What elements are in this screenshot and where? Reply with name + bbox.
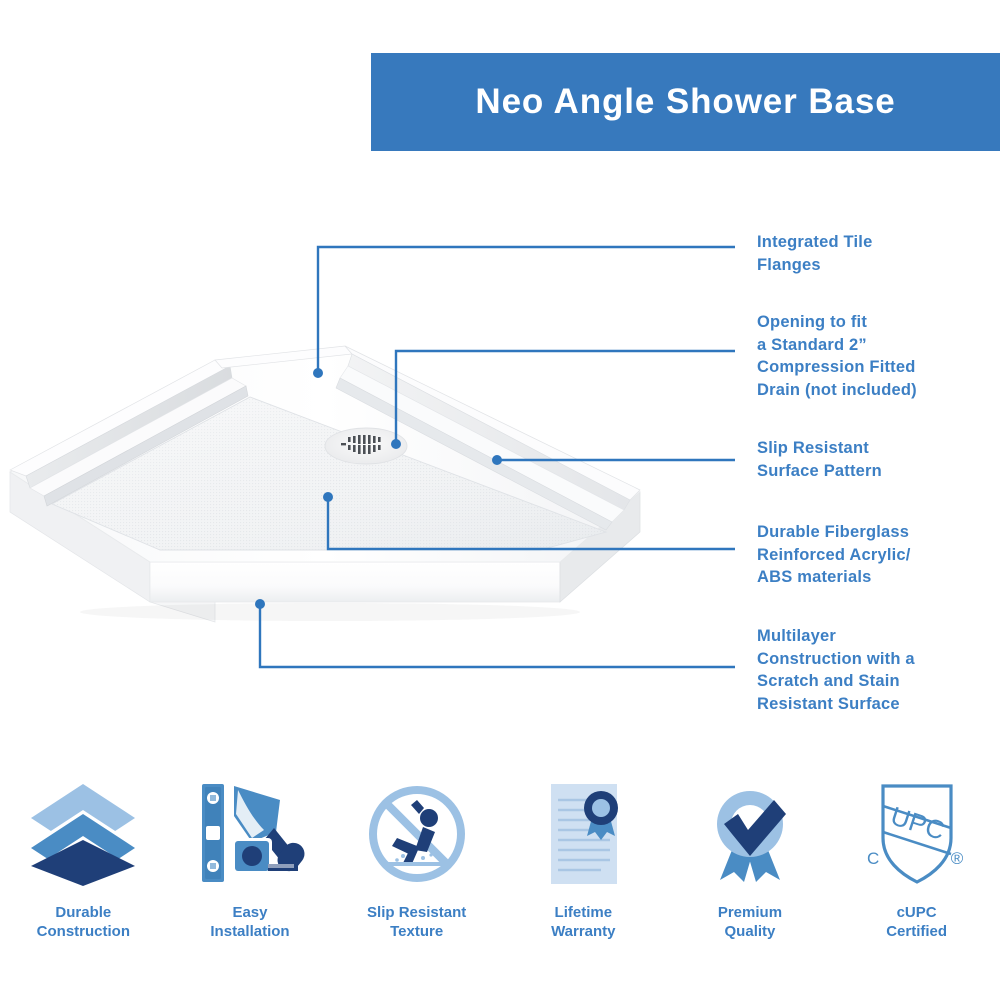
feature-cupc-certified: UPC C ® cUPC Certified — [834, 775, 1000, 941]
feature-caption: Slip Resistant Texture — [367, 903, 466, 941]
callout-label-durable-materials: Durable Fiberglass Reinforced Acrylic/ A… — [757, 521, 911, 589]
product-illustration — [0, 300, 700, 720]
shower-base-drawing — [0, 300, 700, 720]
upc-shield-icon: UPC C ® — [857, 775, 977, 893]
feature-caption: Easy Installation — [210, 903, 289, 941]
checkmark-badge-icon — [690, 775, 810, 893]
feature-premium-quality: Premium Quality — [667, 775, 833, 941]
cupc-left-mark: C — [867, 849, 879, 868]
upc-shield-text: UPC — [887, 800, 948, 845]
certificate-ribbon-icon — [523, 775, 643, 893]
title-banner: Neo Angle Shower Base — [371, 53, 1000, 151]
callout-label-drain-opening: Opening to fit a Standard 2” Compression… — [757, 311, 917, 401]
feature-easy-installation: Easy Installation — [167, 775, 333, 941]
page-title: Neo Angle Shower Base — [475, 82, 895, 122]
feature-caption: Lifetime Warranty — [551, 903, 615, 941]
callout-label-multilayer-construction: Multilayer Construction with a Scratch a… — [757, 625, 915, 715]
feature-lifetime-warranty: Lifetime Warranty — [500, 775, 666, 941]
cupc-registered-mark: ® — [950, 849, 963, 868]
level-and-trowel-icon — [190, 775, 310, 893]
stacked-layers-icon — [23, 775, 143, 893]
feature-slip-resistant-texture: Slip Resistant Texture — [334, 775, 500, 941]
infographic-page: Neo Angle Shower Base — [0, 0, 1000, 1000]
callout-label-integrated-tile-flanges: Integrated Tile Flanges — [757, 231, 872, 276]
feature-strip: Durable Construction — [0, 775, 1000, 975]
drain-grate — [325, 428, 407, 464]
feature-caption: Premium Quality — [718, 903, 782, 941]
no-slip-icon — [357, 775, 477, 893]
feature-durable-construction: Durable Construction — [0, 775, 166, 941]
feature-caption: cUPC Certified — [886, 903, 947, 941]
feature-caption: Durable Construction — [37, 903, 130, 941]
callout-label-slip-resistant-surface: Slip Resistant Surface Pattern — [757, 437, 882, 482]
